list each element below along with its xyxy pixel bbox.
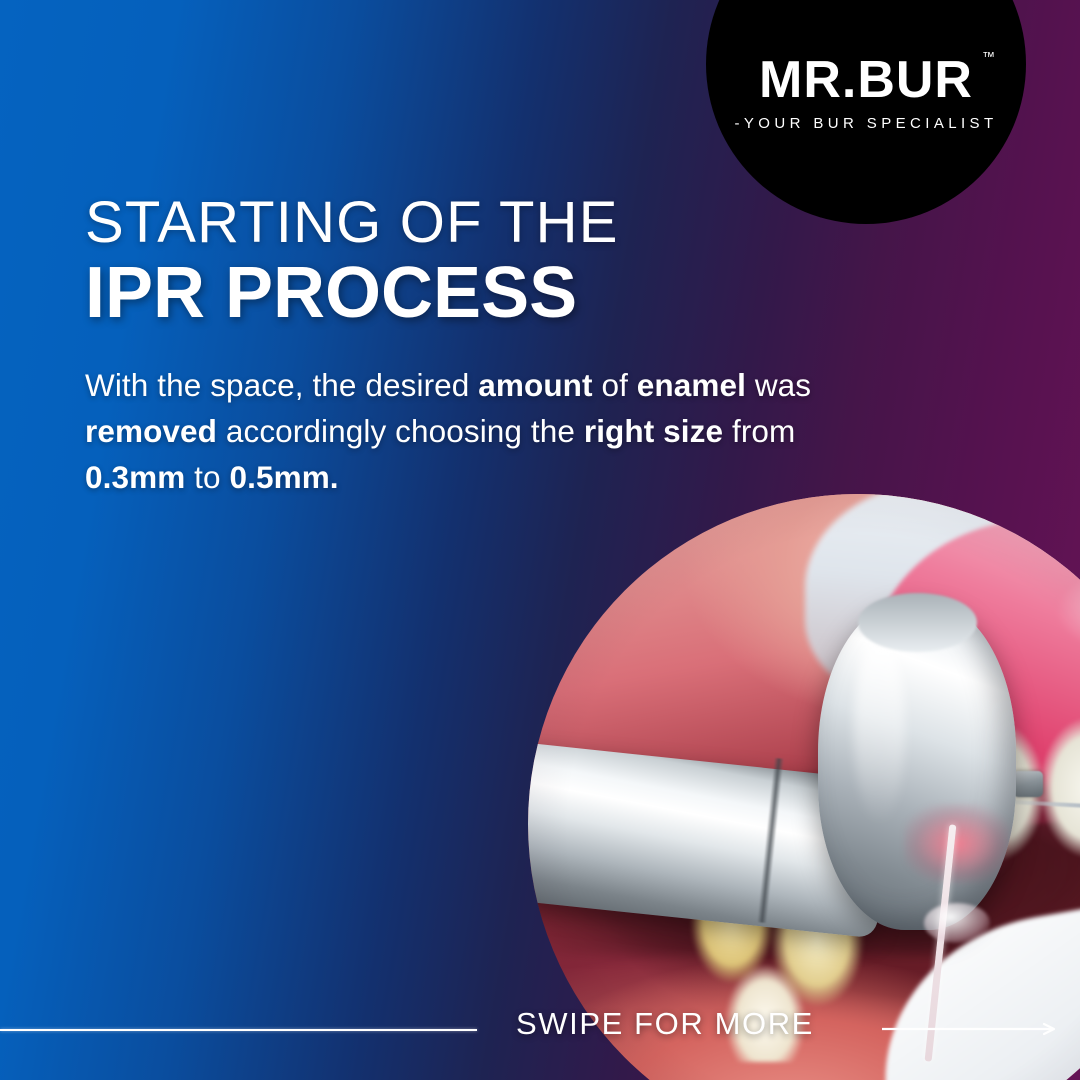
brand-badge: MR.BUR™ -YOUR BUR SPECIALIST: [706, 0, 1026, 224]
body-seg-3: was: [746, 367, 811, 403]
clinical-photo-circle: Close-up intraoral clinical photo: denta…: [528, 494, 1080, 1080]
body-bold-right-size: right size: [584, 413, 723, 449]
body-seg-1: With the space, the desired: [85, 367, 478, 403]
body-bold-amount: amount: [478, 367, 592, 403]
clinical-photo-image: [528, 494, 1080, 1080]
brand-tagline: -YOUR BUR SPECIALIST: [706, 115, 1026, 132]
arrow-right-icon[interactable]: [882, 1022, 1058, 1036]
body-bold-min-size: 0.3mm: [85, 459, 185, 495]
body-bold-removed: removed: [85, 413, 217, 449]
headline-line-1: STARTING OF THE: [85, 192, 619, 253]
headline-line-2: IPR PROCESS: [85, 255, 619, 333]
body-bold-max-size: 0.5mm.: [230, 459, 339, 495]
body-seg-5: from: [723, 413, 795, 449]
brand-lockup: MR.BUR™ -YOUR BUR SPECIALIST: [706, 54, 1026, 132]
photo-layer-vignette: [528, 494, 1080, 1080]
body-seg-2: of: [593, 367, 637, 403]
brand-name-text: MR.BUR: [759, 51, 973, 109]
page-title: STARTING OF THE IPR PROCESS: [85, 192, 619, 333]
instagram-carousel-slide: Close-up intraoral clinical photo: denta…: [0, 0, 1080, 1080]
swipe-rule-left: [0, 1029, 477, 1031]
trademark-icon: ™: [982, 50, 995, 63]
body-seg-6: to: [185, 459, 229, 495]
body-seg-4: accordingly choosing the: [217, 413, 584, 449]
swipe-for-more-label: SWIPE FOR MORE: [516, 1006, 814, 1042]
brand-name: MR.BUR™: [759, 54, 973, 106]
body-copy: With the space, the desired amount of en…: [85, 362, 875, 500]
body-bold-enamel: enamel: [637, 367, 746, 403]
